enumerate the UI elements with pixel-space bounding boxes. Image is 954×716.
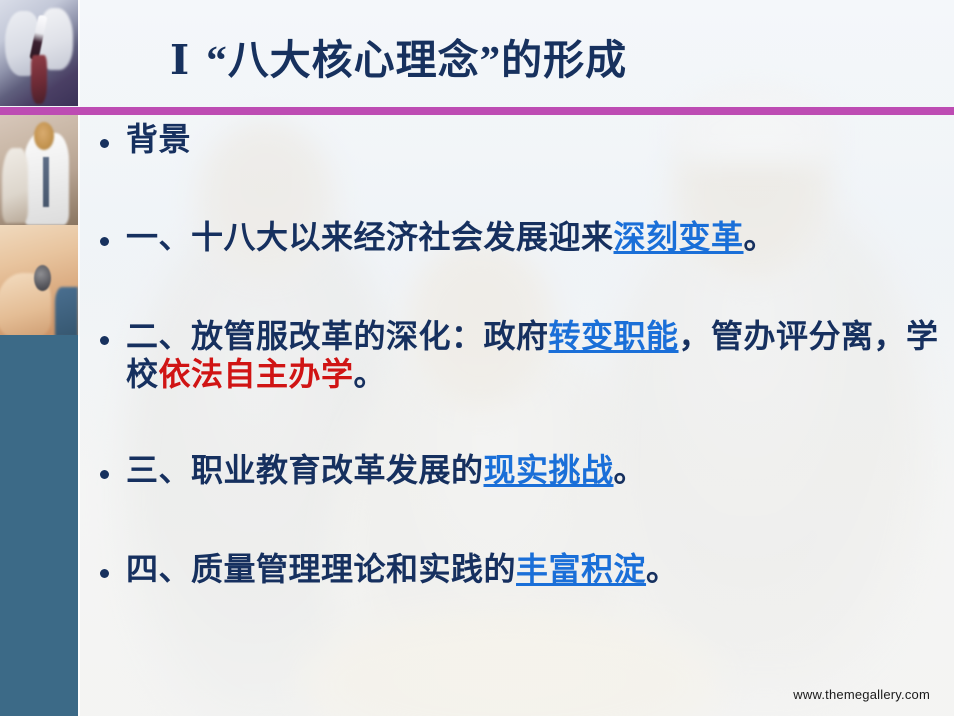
segment-link[interactable]: 深刻变革 bbox=[614, 218, 744, 256]
sidebar-photo-hand-with-stethoscope bbox=[0, 225, 78, 335]
presentation-slide: Ⅰ“八大核心理念”的形成 背景 一、十八大以来经济社会发展迎来深刻变革。 二、放… bbox=[0, 0, 954, 716]
sidebar-photo-lab-technician-with-test-tube bbox=[0, 0, 78, 106]
title-text: “八大核心理念”的形成 bbox=[206, 37, 627, 83]
segment-plain: 。 bbox=[614, 451, 647, 489]
footer-website-url[interactable]: www.themegallery.com bbox=[793, 687, 930, 702]
slide-header: Ⅰ“八大核心理念”的形成 bbox=[78, 0, 954, 107]
segment-plain: 。 bbox=[354, 355, 387, 393]
segment-plain: 二、放管服改革的深化：政府 bbox=[126, 317, 549, 355]
bullet-dot-icon bbox=[100, 470, 109, 479]
segment-plain: 一、十八大以来经济社会发展迎来 bbox=[126, 218, 614, 256]
page-title: Ⅰ“八大核心理念”的形成 bbox=[170, 26, 627, 86]
blue-fabric-shape bbox=[55, 287, 78, 335]
header-divider-bar bbox=[0, 107, 954, 115]
bullet-dot-icon bbox=[100, 139, 109, 148]
bullet-dot-icon bbox=[100, 237, 109, 246]
bullet-dot-icon bbox=[100, 336, 109, 345]
segment-link[interactable]: 现实挑战 bbox=[484, 451, 614, 489]
bullet-text-2: 一、十八大以来经济社会发展迎来深刻变革。 bbox=[126, 219, 776, 257]
segment-red: 依法自主办学 bbox=[159, 355, 354, 393]
bullet-text-3: 二、放管服改革的深化：政府转变职能，管办评分离，学校依法自主办学。 bbox=[126, 318, 954, 394]
segment-plain: 。 bbox=[744, 218, 777, 256]
bullet-text-5: 四、质量管理理论和实践的丰富积淀。 bbox=[126, 551, 679, 589]
photo-image bbox=[0, 0, 78, 106]
bullet-item-4: 三、职业教育改革发展的现实挑战。 bbox=[100, 452, 646, 490]
segment-plain: 背景 bbox=[126, 120, 191, 158]
photo-image bbox=[0, 225, 78, 335]
segment-link[interactable]: 丰富积淀 bbox=[516, 550, 646, 588]
second-person-shape bbox=[2, 148, 29, 223]
bullet-item-3: 二、放管服改革的深化：政府转变职能，管办评分离，学校依法自主办学。 bbox=[100, 318, 954, 394]
segment-plain: 。 bbox=[646, 550, 679, 588]
segment-link[interactable]: 转变职能 bbox=[549, 317, 679, 355]
bullet-item-2: 一、十八大以来经济社会发展迎来深刻变革。 bbox=[100, 219, 776, 257]
slide-body: 背景 一、十八大以来经济社会发展迎来深刻变革。 二、放管服改革的深化：政府转变职… bbox=[78, 115, 954, 716]
tie-shape bbox=[43, 157, 49, 208]
segment-plain: 四、质量管理理论和实践的 bbox=[126, 550, 516, 588]
sidebar-solid-block bbox=[0, 335, 78, 716]
segment-plain: 三、职业教育改革发展的 bbox=[126, 451, 484, 489]
sidebar-photo-nurse-in-white-coat bbox=[0, 115, 78, 225]
bullet-text-4: 三、职业教育改革发展的现实挑战。 bbox=[126, 452, 646, 490]
bullet-item-5: 四、质量管理理论和实践的丰富积淀。 bbox=[100, 551, 679, 589]
title-numeral: Ⅰ bbox=[170, 37, 190, 83]
bullet-dot-icon bbox=[100, 569, 109, 578]
bullet-text-1: 背景 bbox=[126, 121, 191, 159]
bullet-item-1: 背景 bbox=[100, 121, 191, 159]
photo-image bbox=[0, 115, 78, 225]
